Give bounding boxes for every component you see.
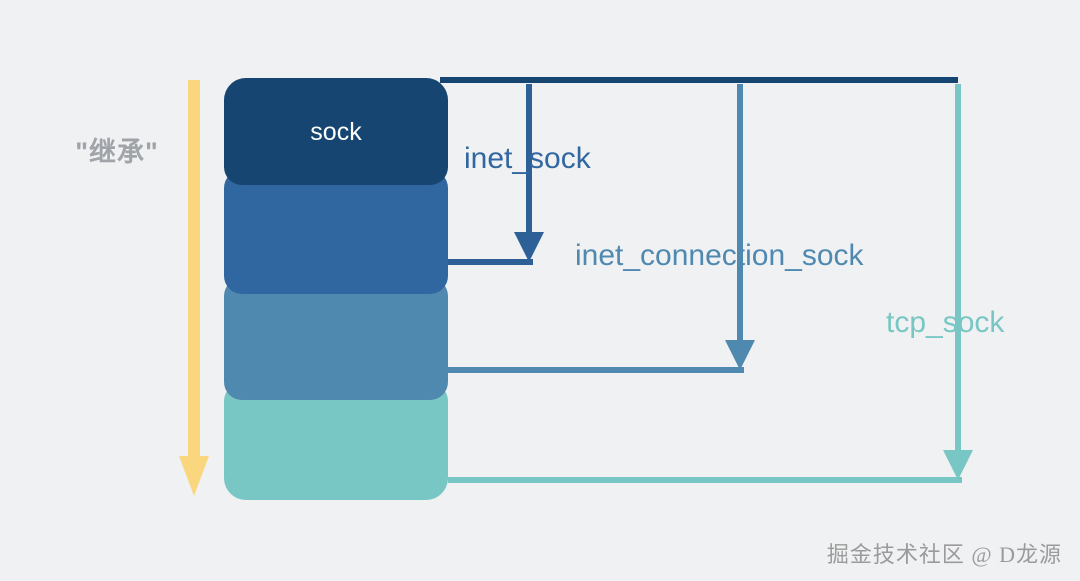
connector-lines (0, 0, 1080, 581)
connector-label-inet-connection-sock: inet_connection_sock (575, 239, 864, 273)
watermark: 掘金技术社区 @ D龙源 (827, 537, 1062, 569)
layer-tcp-sock[interactable] (224, 383, 448, 500)
sock-layer-stack: sock (224, 78, 448, 500)
connector-label-inet-sock: inet_sock (464, 142, 591, 176)
diagram-canvas: "继承" sock inet_sock inet_ (0, 0, 1080, 581)
connector-inet-connection-sock (448, 84, 755, 370)
layer-inet-connection-sock[interactable] (224, 278, 448, 400)
layer-sock[interactable] (224, 78, 448, 185)
connector-label-tcp-sock: tcp_sock (886, 306, 1004, 340)
layer-inet-sock[interactable] (224, 170, 448, 294)
